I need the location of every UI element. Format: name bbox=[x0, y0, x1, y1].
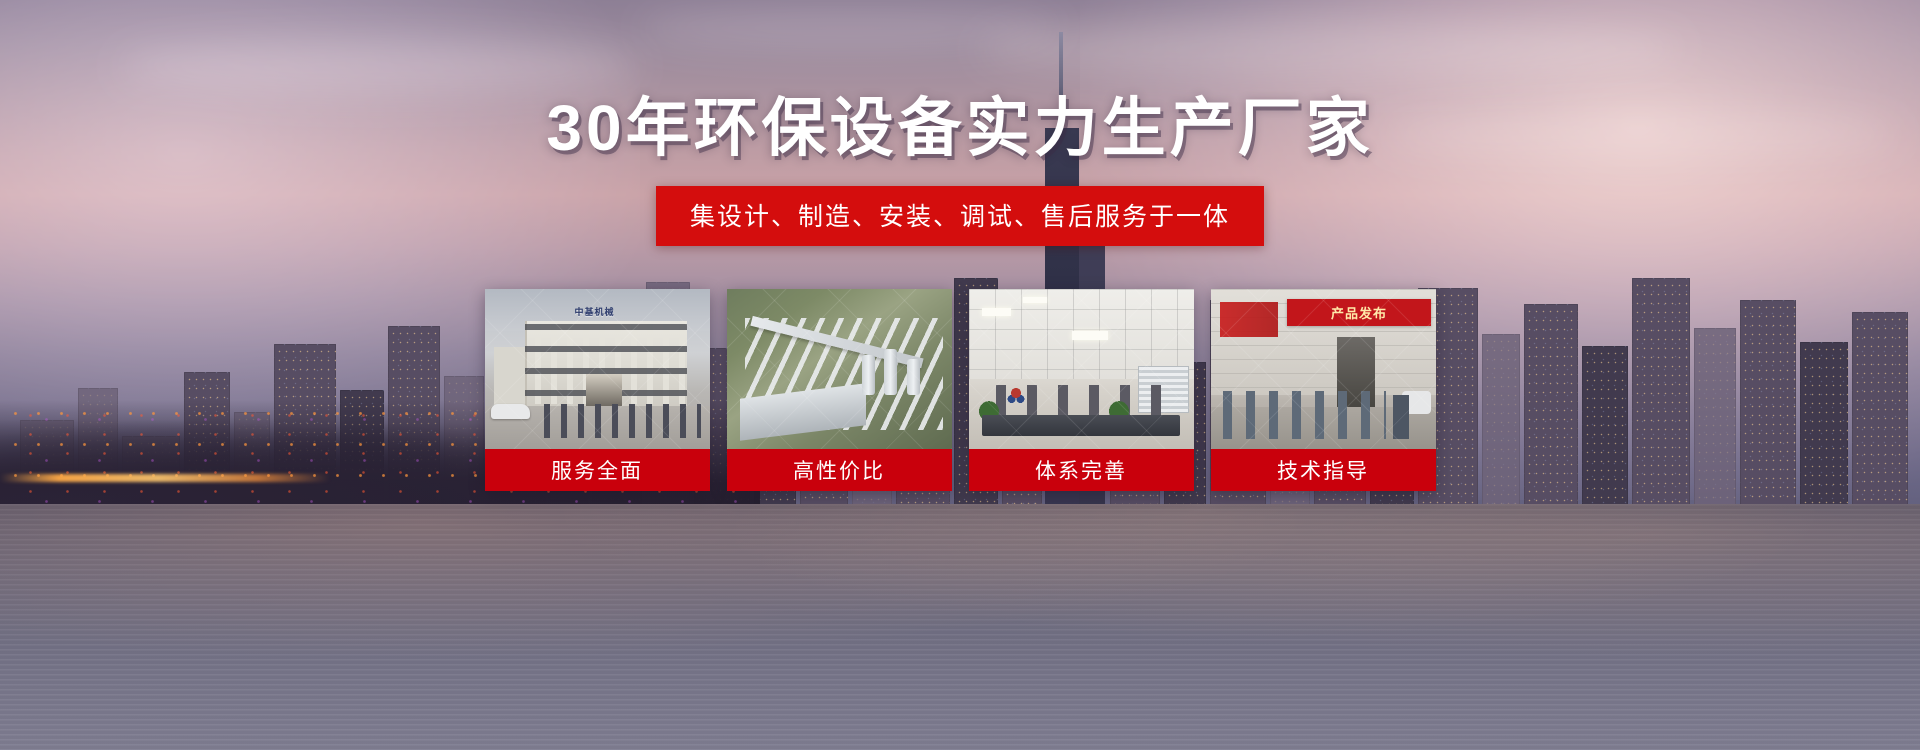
hero-banner: 30年环保设备实力生产厂家 集设计、制造、安装、调试、售后服务于一体 中基机械 bbox=[0, 0, 1920, 750]
subtitle-badge: 集设计、制造、安装、调试、售后服务于一体 bbox=[656, 186, 1264, 246]
feature-card[interactable]: 体系完善 bbox=[969, 289, 1194, 491]
feature-card[interactable]: 产品发布 技术指导 bbox=[1211, 289, 1436, 491]
card-photo-office-interior bbox=[969, 289, 1194, 449]
card-label: 高性价比 bbox=[727, 449, 952, 491]
card-label: 服务全面 bbox=[485, 449, 710, 491]
card-photo-production-plant bbox=[727, 289, 952, 449]
page-title: 30年环保设备实力生产厂家 bbox=[546, 96, 1373, 160]
card-photo-factory-workshop: 产品发布 bbox=[1211, 289, 1436, 449]
card-label: 技术指导 bbox=[1211, 449, 1436, 491]
banner-content: 30年环保设备实力生产厂家 集设计、制造、安装、调试、售后服务于一体 中基机械 bbox=[0, 0, 1920, 750]
feature-card-list: 中基机械 服务全面 bbox=[485, 289, 1436, 491]
feature-card[interactable]: 高性价比 bbox=[727, 289, 952, 491]
building-sign-text: 中基机械 bbox=[575, 305, 615, 318]
factory-banner-text: 产品发布 bbox=[1287, 299, 1431, 326]
feature-card[interactable]: 中基机械 服务全面 bbox=[485, 289, 710, 491]
card-label: 体系完善 bbox=[969, 449, 1194, 491]
card-photo-company-building: 中基机械 bbox=[485, 289, 710, 449]
